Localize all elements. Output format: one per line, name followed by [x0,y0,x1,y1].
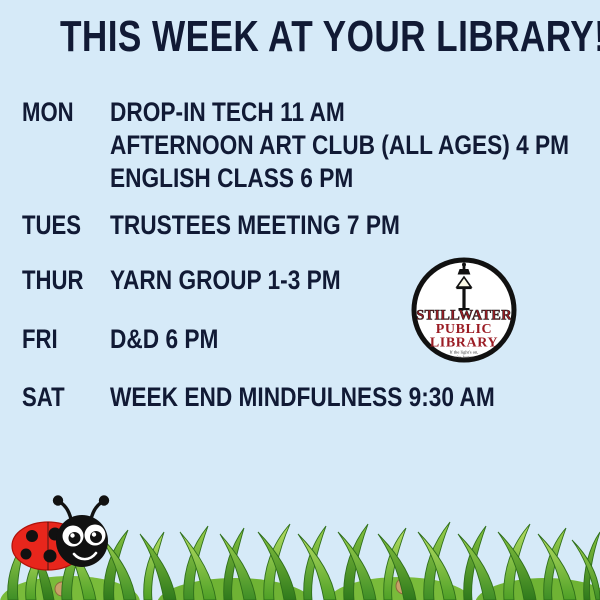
event-item: TRUSTEES MEETING 7 PM [110,209,490,242]
library-logo: STILLWATER PUBLIC LIBRARY If the light's… [411,257,517,363]
day-label-thur: THUR [22,264,104,297]
event-item: DROP-IN TECH 11 AM [110,96,569,129]
schedule-row-tues: TUES TRUSTEES MEETING 7 PM [22,209,562,242]
logo-line-3: LIBRARY [430,336,498,351]
event-item: AFTERNOON ART CLUB (ALL AGES) 4 PM [110,129,569,162]
ladybug-icon [10,494,130,580]
schedule-row-mon: MON DROP-IN TECH 11 AM AFTERNOON ART CLU… [22,96,562,195]
schedule-row-sat: SAT WEEK END MINDFULNESS 9:30 AM [22,381,562,414]
event-item: WEEK END MINDFULNESS 9:30 AM [110,381,495,414]
page-title: THIS WEEK AT YOUR LIBRARY! [60,13,540,61]
event-item: ENGLISH CLASS 6 PM [110,162,569,195]
day-label-sat: SAT [22,381,104,414]
day-label-tues: TUES [22,209,104,242]
day-label-mon: MON [22,96,104,129]
day-label-fri: FRI [22,323,104,356]
events-mon: DROP-IN TECH 11 AM AFTERNOON ART CLUB (A… [110,96,600,195]
weekly-schedule: MON DROP-IN TECH 11 AM AFTERNOON ART CLU… [22,96,562,414]
library-week-poster: THIS WEEK AT YOUR LIBRARY! MON DROP-IN T… [0,0,600,600]
events-tues: TRUSTEES MEETING 7 PM [110,209,562,242]
events-sat: WEEK END MINDFULNESS 9:30 AM [110,381,568,414]
logo-tagline-2: we're home... [452,355,477,360]
